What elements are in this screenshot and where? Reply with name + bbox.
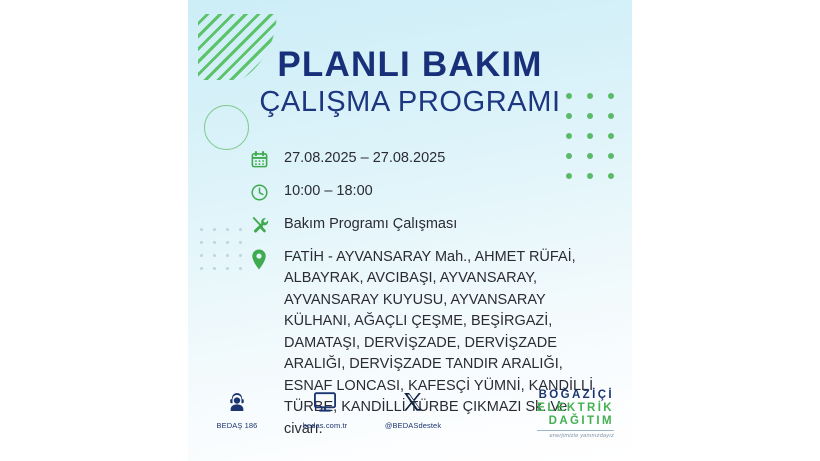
calendar-icon xyxy=(250,148,274,170)
logo-tagline: enerjimizle yanınızdayız xyxy=(537,430,614,439)
contact-list: BEDAŞ 186 bedas.com.tr xyxy=(204,387,446,430)
contact-label-website: bedas.com.tr xyxy=(292,421,358,430)
location-pin-icon xyxy=(250,247,274,270)
info-row-date: 27.08.2025 – 27.08.2025 xyxy=(250,148,606,170)
logo-line-3: DAĞITIM xyxy=(537,415,614,428)
announcement-poster: PLANLI BAKIM ÇALIŞMA PROGRAMI 27.08 xyxy=(188,0,632,461)
clock-icon xyxy=(250,181,274,203)
support-agent-icon xyxy=(204,387,270,417)
contact-item-website[interactable]: bedas.com.tr xyxy=(292,387,358,430)
poster-footer: BEDAŞ 186 bedas.com.tr xyxy=(188,387,632,445)
contact-label-phone: BEDAŞ 186 xyxy=(204,421,270,430)
page-subtitle: ÇALIŞMA PROGRAMI xyxy=(188,85,632,119)
logo-line-2: ELEKTRİK xyxy=(537,402,614,415)
date-range-text: 27.08.2025 – 27.08.2025 xyxy=(284,148,445,166)
page-title: PLANLI BAKIM xyxy=(188,46,632,83)
monitor-icon xyxy=(292,387,358,417)
logo-line-1: BOĞAZİÇİ xyxy=(537,389,614,402)
bedas-logo: BOĞAZİÇİ ELEKTRİK DAĞITIM enerjimizle ya… xyxy=(537,389,614,439)
work-type-text: Bakım Programı Çalışması xyxy=(284,214,457,232)
info-row-time: 10:00 – 18:00 xyxy=(250,181,606,203)
time-range-text: 10:00 – 18:00 xyxy=(284,181,373,199)
tools-icon xyxy=(250,214,274,236)
dot-grid-decoration-left xyxy=(200,228,252,280)
poster-header: PLANLI BAKIM ÇALIŞMA PROGRAMI xyxy=(188,46,632,119)
contact-label-social: @BEDASdestek xyxy=(380,421,446,430)
info-row-work: Bakım Programı Çalışması xyxy=(250,214,606,236)
contact-item-phone[interactable]: BEDAŞ 186 xyxy=(204,387,270,430)
x-social-icon xyxy=(380,387,446,417)
contact-item-social[interactable]: @BEDASdestek xyxy=(380,387,446,430)
